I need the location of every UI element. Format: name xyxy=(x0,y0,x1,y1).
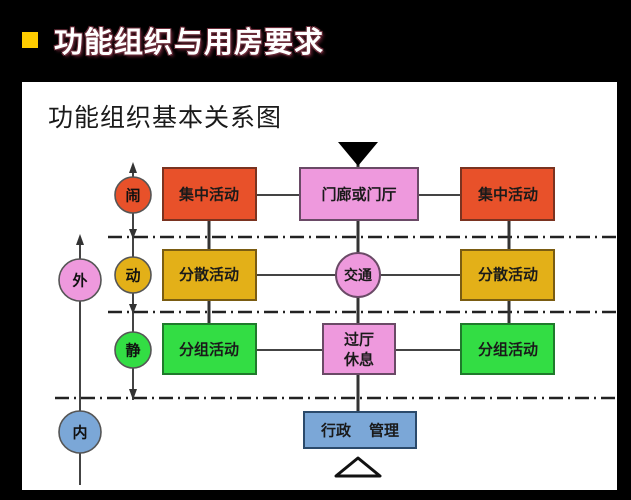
box-left-central-activity[interactable] xyxy=(163,168,256,220)
box-right-group-activity[interactable] xyxy=(461,324,554,374)
page-title: 功能组织与用房要求 xyxy=(54,19,324,61)
row-noisy: 集中活动 门廊或门厅 集中活动 xyxy=(163,168,554,220)
zone-node-quiet xyxy=(115,332,151,368)
box-right-dispersed-activity[interactable] xyxy=(461,250,554,300)
entry-arrow-icon xyxy=(338,142,378,166)
title-bullet-icon xyxy=(22,32,38,48)
box-left-group-activity[interactable] xyxy=(163,324,256,374)
slide-root: 功能组织与用房要求 功能组织基本关系图 外 内 xyxy=(0,0,631,500)
row-active: 分散活动 交通 分散活动 xyxy=(163,250,554,300)
axis-noisy-quiet: 闹 动 静 xyxy=(115,162,151,400)
exit-arrow-icon xyxy=(336,458,380,476)
diagram-panel: 功能组织基本关系图 外 内 xyxy=(22,82,617,490)
box-right-central-activity[interactable] xyxy=(461,168,554,220)
axis-outer-inner: 外 内 xyxy=(59,234,101,485)
row-quiet: 分组活动 过厅 休息 分组活动 xyxy=(163,324,554,374)
axis-node-outer xyxy=(59,259,101,301)
axis2-arrow-up-icon xyxy=(129,162,137,173)
box-center-entrance-hall[interactable] xyxy=(300,168,418,220)
box-administration[interactable] xyxy=(304,412,416,448)
box-left-dispersed-activity[interactable] xyxy=(163,250,256,300)
box-center-lobby-rest[interactable] xyxy=(323,324,395,374)
zone-node-noisy xyxy=(115,177,151,213)
slide-title-bar: 功能组织与用房要求 xyxy=(0,0,631,80)
zone-node-active xyxy=(115,257,151,293)
axis-arrow-up-icon xyxy=(76,234,84,245)
node-center-circulation[interactable] xyxy=(336,253,380,297)
axis-node-inner xyxy=(59,411,101,453)
row-administration: 行政 管理 xyxy=(304,412,416,476)
functional-relationship-diagram: 外 内 闹 动 静 xyxy=(22,82,617,490)
